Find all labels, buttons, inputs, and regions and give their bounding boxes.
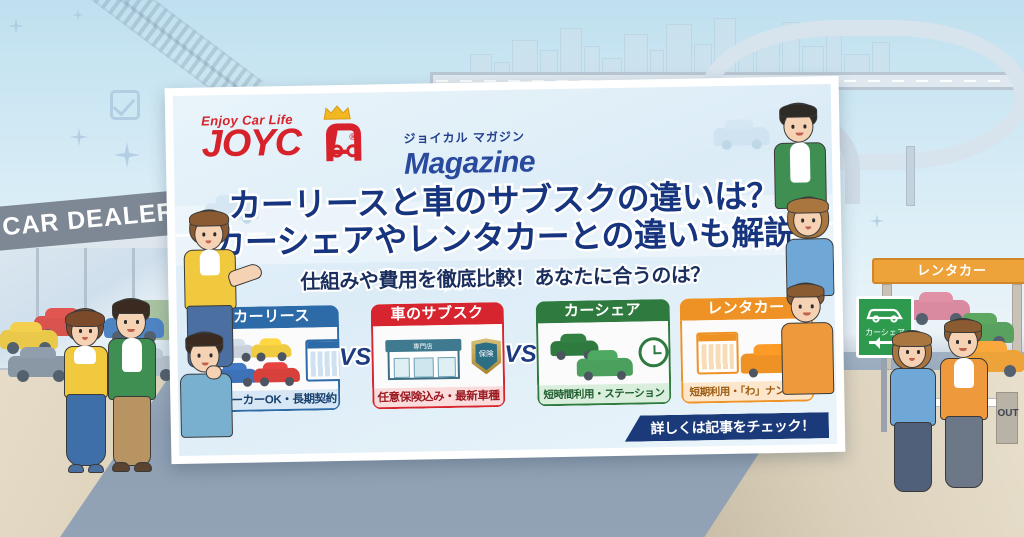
vs-label-2: VS	[504, 301, 538, 407]
panel-car-subscription[interactable]: 車のサブスク 専門店 保険	[370, 302, 505, 409]
calendar-icon	[696, 332, 739, 375]
checkbox-icon	[110, 90, 140, 120]
magazine-label: ジョイカル マガジン Magazine	[403, 127, 535, 181]
comparison-row: カーリース 全メーカーOK・長期契約	[205, 296, 815, 412]
panel-car-share-title: カーシェア	[536, 299, 670, 323]
joycal-logo: Enjoy Car Life JOYCL® ジョイカル マガジン Magazin…	[201, 111, 356, 163]
promotional-banner: CAR DEALER For car life	[0, 0, 1024, 537]
panel-car-subscription-icons: 専門店 保険	[371, 324, 506, 388]
dealer-shop-icon: 専門店	[387, 347, 460, 380]
rental-sign-text: レンタカー	[874, 260, 1024, 282]
shop-label: 専門店	[389, 340, 457, 351]
clock-icon	[638, 337, 669, 368]
shield-label: 保険	[471, 348, 501, 375]
rental-canopy: レンタカー	[872, 258, 1024, 284]
cta-banner[interactable]: 詳しくは記事をチェック！	[624, 412, 829, 442]
headline-subtitle: 仕組みや費用を徹底比較！あなたに合うのは？	[176, 256, 834, 297]
calendar-icon	[305, 339, 340, 382]
main-content-card: Enjoy Car Life JOYCL® ジョイカル マガジン Magazin…	[165, 76, 846, 464]
background-car	[908, 300, 970, 320]
gate-exit-label: OUT	[996, 408, 1020, 419]
panel-car-subscription-title: 車のサブスク	[370, 302, 504, 326]
panel-car-share-caption: 短時間利用・ステーション	[537, 383, 671, 406]
car-glyph-icon	[865, 304, 905, 324]
magazine-kana: ジョイカル マガジン	[403, 127, 534, 146]
logo-car-glyph-icon	[323, 119, 364, 164]
magazine-title: Magazine	[404, 145, 536, 181]
vs-label-1: VS	[338, 304, 372, 410]
logo-brand-text: JOYC	[201, 122, 301, 166]
headline-block: カーリースと車のサブスクの違いは？ カーシェアやレンタカーとの違いも解説 仕組み…	[174, 176, 834, 297]
panel-car-share[interactable]: カーシェア 短時間利用・ステーション	[536, 299, 671, 406]
ghost-car-icon	[713, 127, 769, 146]
background-car	[0, 330, 58, 349]
insurance-shield-icon: 保険	[471, 338, 502, 375]
panel-car-subscription-caption: 任意保険込み・最新車種	[372, 386, 506, 409]
dealer-sign-text: CAR DEALER	[1, 198, 177, 243]
sign-post	[881, 358, 887, 432]
panel-car-share-icons	[536, 321, 671, 385]
